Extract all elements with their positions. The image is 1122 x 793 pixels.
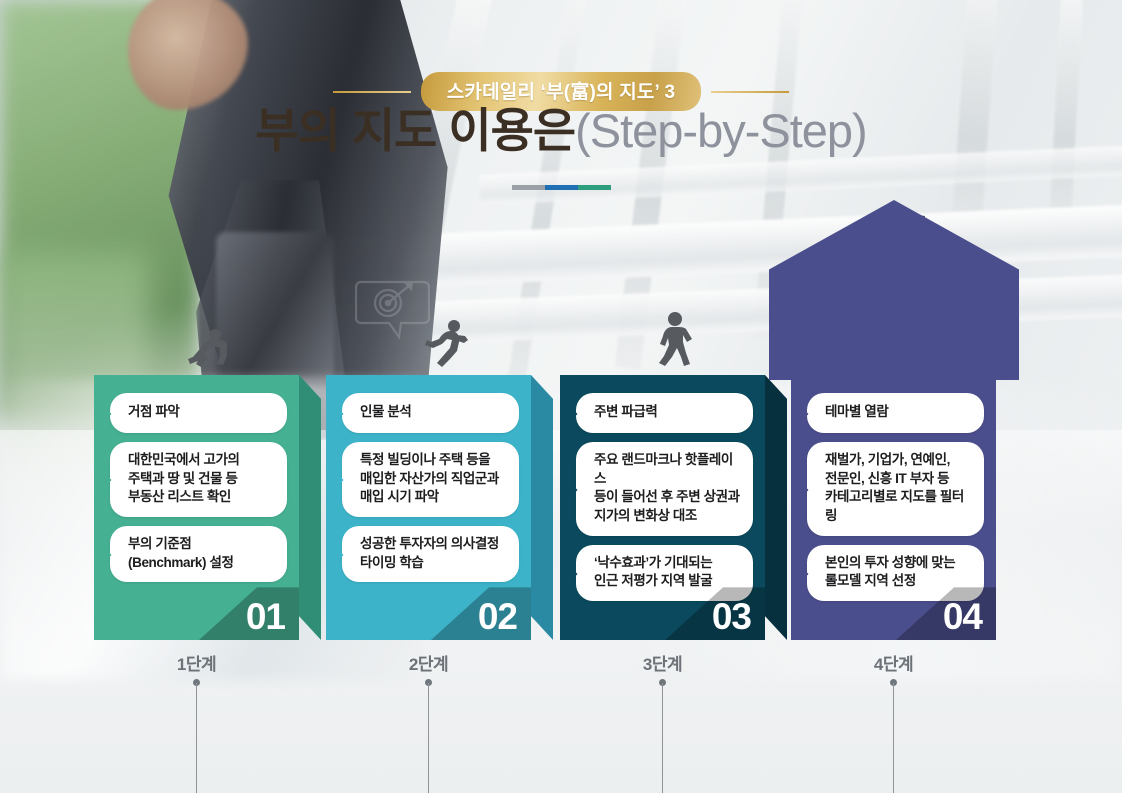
step-card-1[interactable]: 거점 파악 대한민국에서 고가의주택과 땅 및 건물 등부동산 리스트 확인 부… xyxy=(94,375,299,640)
step-3-connector-line xyxy=(662,683,663,793)
arrow-bullet-icon xyxy=(329,473,346,485)
step-2-item-2[interactable]: 특정 빌딩이나 주택 등을매입한 자산가의 직업군과매입 시기 파악 xyxy=(342,442,519,517)
arrow-bullet-icon xyxy=(97,407,114,419)
crouching-runner-icon xyxy=(186,326,232,375)
step-1-item-1[interactable]: 거점 파악 xyxy=(110,393,287,433)
arrow-bullet-icon xyxy=(563,567,580,579)
arrow-bullet-icon xyxy=(794,483,811,495)
step-4-item-2[interactable]: 재벌가, 기업가, 연예인,전문인, 신흥 IT 부자 등카테고리별로 지도를 … xyxy=(807,442,984,536)
arrow-bullet-icon xyxy=(329,407,346,419)
step-2-connector-line xyxy=(428,683,429,793)
step-4-item-2-text: 재벌가, 기업가, 연예인,전문인, 신흥 IT 부자 등카테고리별로 지도를 … xyxy=(825,451,972,526)
step-1-item-1-text: 거점 파악 xyxy=(128,403,179,422)
arrow-bullet-icon xyxy=(563,407,580,419)
step-card-2-fold xyxy=(531,375,553,640)
arrow-bullet-icon xyxy=(97,548,114,560)
step-card-3-fold xyxy=(765,375,787,640)
step-card-4-body: 테마별 열람 재벌가, 기업가, 연예인,전문인, 신흥 IT 부자 등카테고리… xyxy=(791,375,996,640)
walking-person-icon xyxy=(656,311,696,372)
step-2-item-2-text: 특정 빌딩이나 주택 등을매입한 자산가의 직업군과매입 시기 파악 xyxy=(360,451,499,507)
step-1-item-3-text: 부의 기준점(Benchmark) 설정 xyxy=(128,535,234,572)
step-3-item-2[interactable]: 주요 랜드마크나 핫플레이스등이 들어선 후 주변 상권과지가의 변화상 대조 xyxy=(576,442,753,536)
step-card-1-body: 거점 파악 대한민국에서 고가의주택과 땅 및 건물 등부동산 리스트 확인 부… xyxy=(94,375,299,640)
step-3-label: 3단계 xyxy=(560,650,765,675)
step-2-label: 2단계 xyxy=(326,650,531,675)
arrow-bullet-icon xyxy=(563,483,580,495)
arrow-bullet-icon xyxy=(97,473,114,485)
step-2-item-3[interactable]: 성공한 투자자의 의사결정타이밍 학습 xyxy=(342,526,519,582)
step-1-item-2-text: 대한민국에서 고가의주택과 땅 및 건물 등부동산 리스트 확인 xyxy=(128,451,240,507)
step-3-item-1-text: 주변 파급력 xyxy=(594,403,657,422)
arrow-bullet-icon xyxy=(329,548,346,560)
step-4-arrow-shaft xyxy=(769,318,1019,380)
step-3-item-3-text: ‘낙수효과’가 기대되는인근 저평가 지역 발굴 xyxy=(594,554,712,591)
step-1-item-2[interactable]: 대한민국에서 고가의주택과 땅 및 건물 등부동산 리스트 확인 xyxy=(110,442,287,517)
step-card-2[interactable]: 인물 분석 특정 빌딩이나 주택 등을매입한 자산가의 직업군과매입 시기 파악… xyxy=(326,375,531,640)
step-card-3[interactable]: 주변 파급력 주요 랜드마크나 핫플레이스등이 들어선 후 주변 상권과지가의 … xyxy=(560,375,765,640)
step-2-item-3-text: 성공한 투자자의 의사결정타이밍 학습 xyxy=(360,535,499,572)
step-2-item-1[interactable]: 인물 분석 xyxy=(342,393,519,433)
step-4-item-3-text: 본인의 투자 성향에 맞는롤모델 지역 선정 xyxy=(825,554,955,591)
step-1-number: 01 xyxy=(246,598,285,635)
step-1-item-3[interactable]: 부의 기준점(Benchmark) 설정 xyxy=(110,526,287,582)
step-3-item-2-text: 주요 랜드마크나 핫플레이스등이 들어선 후 주변 상권과지가의 변화상 대조 xyxy=(594,451,741,526)
step-3-item-1[interactable]: 주변 파급력 xyxy=(576,393,753,433)
arrow-bullet-icon xyxy=(794,567,811,579)
step-3-number: 03 xyxy=(712,598,751,635)
step-4-arrow-head xyxy=(769,200,1019,322)
step-1-connector-line xyxy=(196,683,197,793)
step-columns: 거점 파악 대한민국에서 고가의주택과 땅 및 건물 등부동산 리스트 확인 부… xyxy=(0,0,1122,793)
step-2-number: 02 xyxy=(478,598,517,635)
step-4-item-1[interactable]: 테마별 열람 xyxy=(807,393,984,433)
arrow-bullet-icon xyxy=(794,407,811,419)
step-card-3-body: 주변 파급력 주요 랜드마크나 핫플레이스등이 들어선 후 주변 상권과지가의 … xyxy=(560,375,765,640)
step-card-2-body: 인물 분석 특정 빌딩이나 주택 등을매입한 자산가의 직업군과매입 시기 파악… xyxy=(326,375,531,640)
step-4-connector-line xyxy=(893,683,894,793)
step-4-label: 4단계 xyxy=(791,650,996,675)
step-4-number: 04 xyxy=(943,598,982,635)
step-4-item-1-text: 테마별 열람 xyxy=(825,403,888,422)
sprinting-runner-icon xyxy=(424,318,470,373)
step-card-4[interactable]: 테마별 열람 재벌가, 기업가, 연예인,전문인, 신흥 IT 부자 등카테고리… xyxy=(791,375,996,640)
step-2-item-1-text: 인물 분석 xyxy=(360,403,411,422)
step-1-label: 1단계 xyxy=(94,650,299,675)
step-card-1-fold xyxy=(299,375,321,640)
